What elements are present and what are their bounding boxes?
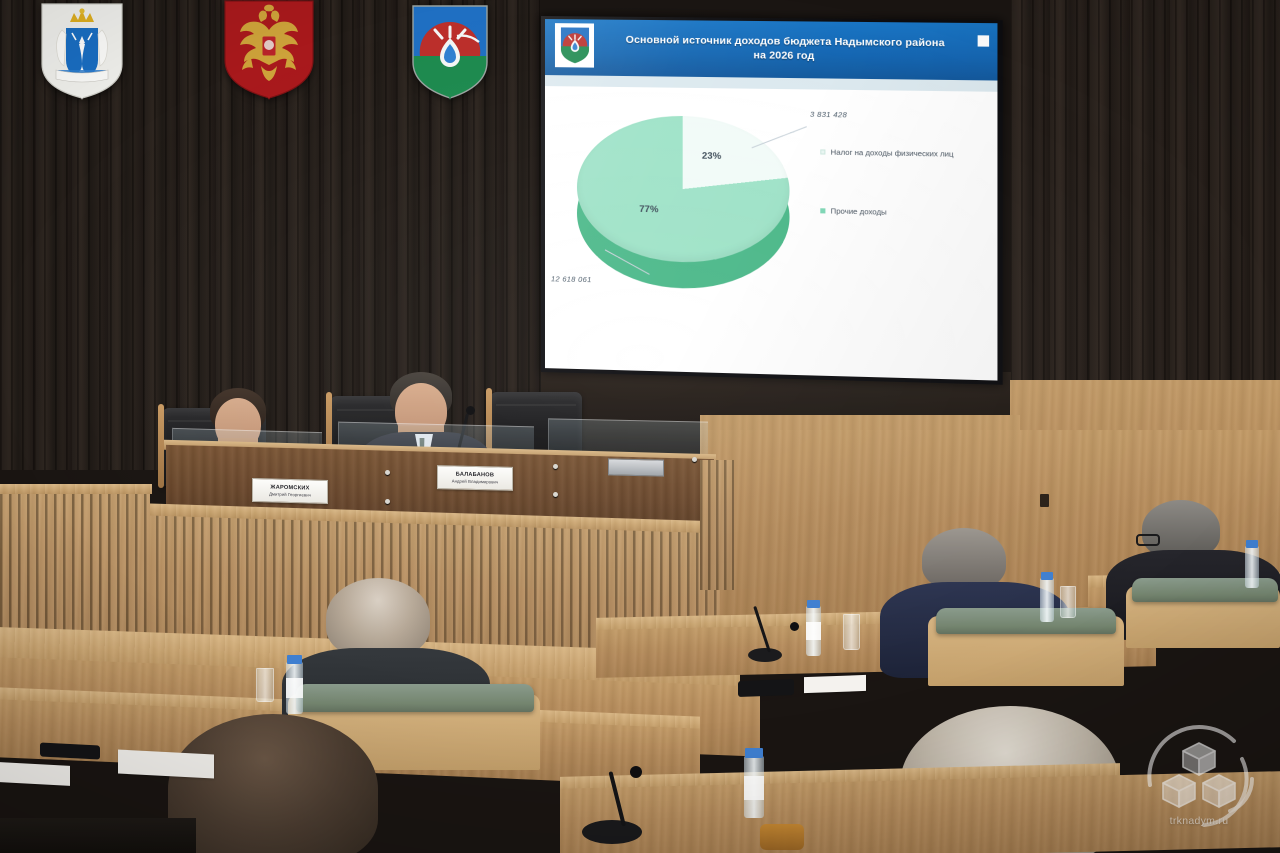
slide-title: Основной источник доходов бюджета Надымс…: [601, 34, 970, 66]
nameplate-zharomskikh: ЖАРОМСКИХ Дмитрий Георгиевич: [252, 478, 328, 504]
dais-knob-7[interactable]: [692, 457, 697, 462]
projection-screen: Основной источник доходов бюджета Надымс…: [541, 16, 1003, 385]
legend-label-other: Прочие доходы: [831, 205, 887, 218]
audience-right-center-hair: [922, 528, 1006, 590]
nameplate-balabanov: БАЛАБАНОВ Андрей Владимирович: [437, 465, 513, 491]
paper-sheet-left-1[interactable]: [118, 749, 214, 778]
bottle-label-foreground: [744, 776, 764, 800]
slide-emblem-icon: [555, 23, 594, 67]
paper-sheet-left-2[interactable]: [0, 762, 70, 786]
slide-corner-marker: [978, 35, 989, 46]
paper-sheet-right[interactable]: [804, 675, 866, 693]
audience-front-left-hair: [326, 578, 430, 658]
bottle-cap-foreground: [745, 748, 763, 758]
dais-knob-4[interactable]: [553, 464, 558, 469]
microphone-head-right: [790, 622, 799, 631]
drinking-glass-left-1[interactable]: [256, 668, 274, 702]
bottle-cap-left-1: [287, 655, 302, 664]
presentation-slide: Основной источник доходов бюджета Надымс…: [545, 19, 997, 381]
foreground-shadow-band: [0, 818, 196, 853]
bottle-cap-right-1: [807, 600, 820, 608]
side-slat-wall-right: [700, 460, 734, 590]
dais-knob-1[interactable]: [385, 470, 390, 475]
foreground-left-hair: [168, 714, 378, 853]
coat-of-arms-russia: [221, 0, 317, 100]
nameplate-firstname-2: Андрей Владимирович: [452, 478, 499, 484]
microphone-head-center: [466, 406, 475, 415]
pie-slice-label-other: 77%: [639, 204, 658, 215]
eyeglasses-icon: [1136, 534, 1160, 546]
audience-seatback-right-1[interactable]: [936, 608, 1116, 634]
drinking-glass-right-1[interactable]: [843, 614, 860, 650]
legend-item-nfdl: Налог на доходы физических лиц: [820, 146, 996, 161]
legend-swatch-other: [820, 208, 825, 213]
water-bottle-right-2[interactable]: [1040, 578, 1054, 622]
pie-value-label-nfdl: 3 831 428: [810, 110, 847, 120]
legend-item-other: Прочие доходы: [820, 205, 996, 220]
audience-seatback-front-left[interactable]: [296, 684, 534, 712]
bottle-cap-right-3: [1246, 540, 1258, 548]
coat-of-arms-yamal: [38, 2, 126, 100]
dais-knob-5[interactable]: [553, 492, 558, 497]
audience-person-foreground-left: [168, 714, 388, 853]
bottle-cap-right-2: [1041, 572, 1053, 580]
microphone-head-foreground: [630, 766, 642, 778]
side-slat-texture-right: [700, 460, 734, 590]
desk-object-amber: [760, 824, 804, 850]
coat-of-arms-nadym: [409, 4, 491, 100]
bottle-label-right-1: [806, 622, 821, 640]
microphone-base-foreground: [582, 820, 642, 844]
wall-socket: [1040, 494, 1049, 507]
slide-header: Основной источник доходов бюджета Надымс…: [545, 19, 997, 81]
chart-legend: Налог на доходы физических лиц Прочие до…: [820, 146, 996, 267]
pie-chart: 23% 77%: [577, 102, 790, 307]
smartphone-on-desk[interactable]: [738, 679, 794, 697]
pie-slice-label-nfdl: 23%: [702, 151, 721, 162]
wall-slat-texture-right: [1010, 0, 1280, 380]
legend-label-nfdl: Налог на доходы физических лиц: [831, 147, 954, 161]
pie-value-label-other: 12 618 061: [551, 274, 592, 284]
dais-control-panel[interactable]: [608, 458, 664, 476]
legend-swatch-nfdl: [820, 149, 825, 154]
side-slat-cap-left: [0, 484, 152, 494]
drinking-glass-right-2[interactable]: [1060, 586, 1076, 618]
slide-body: 23% 77% 3 831 428 12 618 061 Налог на до…: [545, 86, 997, 381]
nameplate-firstname-1: Дмитрий Георгиевич: [269, 491, 311, 497]
microphone-base-right: [748, 648, 782, 662]
bottle-label-left-1: [286, 678, 303, 698]
water-bottle-right-3[interactable]: [1245, 546, 1259, 588]
dais-knob-2[interactable]: [385, 499, 390, 504]
back-wall-dark-right: [1010, 0, 1280, 380]
conference-hall-photo: Основной источник доходов бюджета Надымс…: [0, 0, 1280, 853]
